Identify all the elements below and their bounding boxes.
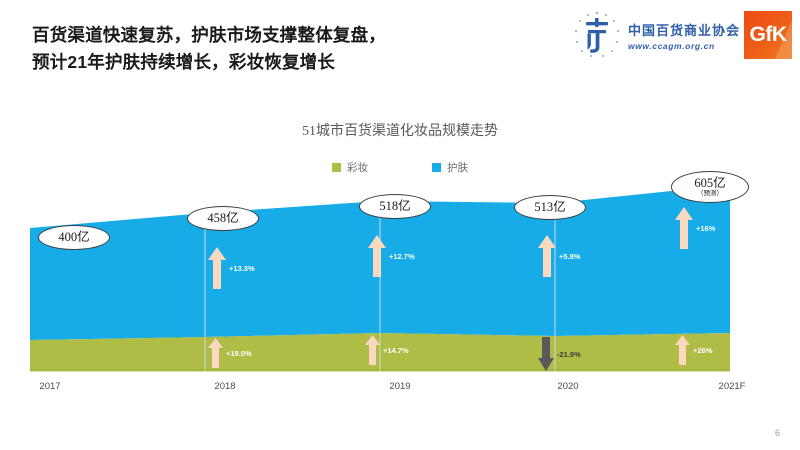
ccagm-logo-icon — [568, 9, 626, 61]
growth-marker-caizhuang-2018: +19.0% — [208, 338, 252, 368]
gfk-label: GfK — [750, 23, 787, 47]
slide: 百货渠道快速复苏，护肤市场支撑整体复盘， 预计21年护肤持续增长，彩妆恢复增长 — [0, 0, 800, 450]
x-axis-tick-2018: 2018 — [214, 381, 235, 392]
arrow-up-icon — [365, 335, 380, 365]
x-axis-tick-2019: 2019 — [389, 381, 410, 392]
arrow-up-icon — [538, 235, 556, 277]
arrow-up-icon — [368, 235, 386, 277]
legend-item-hufu: 护肤 — [432, 160, 468, 175]
arrow-up-icon — [208, 338, 223, 368]
total-value-2021f: 605亿 — [694, 177, 725, 190]
growth-value-caizhuang-2020: -21.9% — [557, 350, 581, 359]
x-axis-tick-2020: 2020 — [557, 381, 578, 392]
page-number: 6 — [775, 428, 780, 438]
arrow-up-icon — [208, 247, 226, 289]
total-value-2019: 518亿 — [379, 200, 410, 213]
legend-label-hufu: 护肤 — [447, 160, 468, 175]
total-callout-2019: 518亿 — [359, 194, 431, 219]
ccagm-wordmark: 中国百货商业协会 www.ccagm.org.cn — [628, 20, 740, 51]
growth-marker-hufu-2018: +13.3% — [208, 247, 255, 289]
headline-line-2: 预计21年护肤持续增长，彩妆恢复增长 — [32, 49, 552, 76]
headline-line-1: 百货渠道快速复苏，护肤市场支撑整体复盘， — [32, 22, 552, 49]
growth-value-hufu-2021f: +16% — [696, 224, 715, 233]
x-axis-tick-2017: 2017 — [39, 381, 60, 392]
gfk-logo: GfK — [744, 11, 792, 59]
chart-title: 51城市百货渠道化妆品规模走势 — [0, 120, 800, 140]
growth-marker-caizhuang-2020: -21.9% — [538, 337, 581, 371]
total-callout-2017: 400亿 — [38, 225, 110, 250]
growth-marker-hufu-2019: +12.7% — [368, 235, 415, 277]
arrow-up-icon — [675, 335, 690, 365]
growth-value-hufu-2018: +13.3% — [229, 264, 255, 273]
growth-marker-hufu-2020: +5.8% — [538, 235, 580, 277]
total-value-2018: 458亿 — [207, 212, 238, 225]
arrow-down-icon — [538, 337, 554, 371]
legend-label-caizhuang: 彩妆 — [347, 160, 368, 175]
growth-value-caizhuang-2018: +19.0% — [226, 349, 252, 358]
growth-marker-hufu-2021f: +16% — [675, 207, 715, 249]
x-axis-tick-2021f: 2021F — [719, 381, 746, 392]
page-title: 百货渠道快速复苏，护肤市场支撑整体复盘， 预计21年护肤持续增长，彩妆恢复增长 — [32, 22, 552, 75]
total-note-2021f: （预测） — [697, 191, 723, 198]
growth-marker-caizhuang-2021f: +26% — [675, 335, 712, 365]
total-value-2020: 513亿 — [534, 201, 565, 214]
total-callout-2020: 513亿 — [514, 195, 586, 220]
growth-value-hufu-2020: +5.8% — [559, 252, 580, 261]
growth-marker-caizhuang-2019: +14.7% — [365, 335, 409, 365]
total-value-2017: 400亿 — [58, 231, 89, 244]
arrow-up-icon — [675, 207, 693, 249]
growth-value-caizhuang-2021f: +26% — [693, 346, 712, 355]
x-axis: 2017 2018 2019 2020 2021F — [20, 381, 780, 403]
legend-item-caizhuang: 彩妆 — [332, 160, 368, 175]
legend-swatch-hufu — [432, 163, 441, 172]
chart-legend: 彩妆 护肤 — [0, 160, 800, 175]
growth-value-caizhuang-2019: +14.7% — [383, 346, 409, 355]
legend-swatch-caizhuang — [332, 163, 341, 172]
total-callout-2018: 458亿 — [187, 206, 259, 231]
chart-plot-area: 400亿 458亿 518亿 513亿 605亿 （预测） +13.3% +12… — [20, 185, 780, 380]
logo-block: 中国百货商业协会 www.ccagm.org.cn GfK — [568, 8, 792, 62]
growth-value-hufu-2019: +12.7% — [389, 252, 415, 261]
ccagm-url: www.ccagm.org.cn — [628, 41, 740, 51]
ccagm-name: 中国百货商业协会 — [628, 20, 740, 39]
total-callout-2021f: 605亿 （预测） — [671, 171, 749, 203]
